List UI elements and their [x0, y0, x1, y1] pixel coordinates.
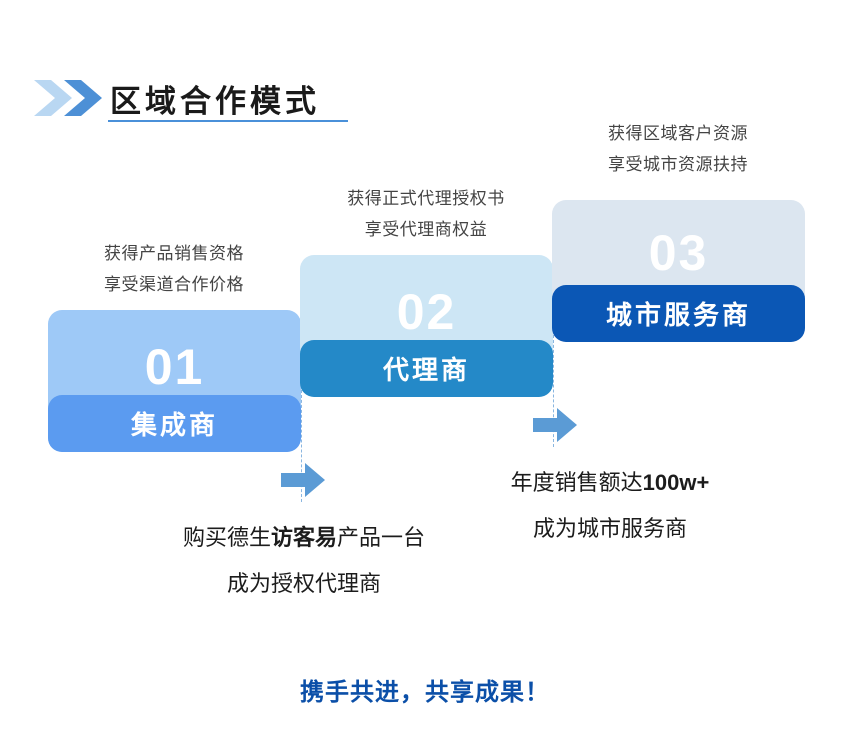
- benefit-line: 获得产品销售资格: [44, 238, 304, 269]
- requirement-highlight: 访客易: [271, 525, 337, 550]
- step-number-1: 01: [48, 342, 301, 392]
- requirement-line-1: 年度销售额达100w+: [430, 460, 790, 506]
- step-benefits-2: 获得正式代理授权书 享受代理商权益: [296, 183, 556, 245]
- benefit-line: 享受渠道合作价格: [44, 269, 304, 300]
- requirement-prefix: 购买德生: [183, 525, 271, 550]
- step-benefits-1: 获得产品销售资格 享受渠道合作价格: [44, 238, 304, 300]
- requirement-line-2: 成为城市服务商: [430, 506, 790, 552]
- step-benefits-3: 获得区域客户资源 享受城市资源扶持: [548, 118, 808, 180]
- partnership-steps-diagram: 获得产品销售资格 享受渠道合作价格 获得正式代理授权书 享受代理商权益 获得区域…: [0, 0, 850, 737]
- requirement-line-2: 成为授权代理商: [124, 561, 484, 607]
- step-label-3[interactable]: 城市服务商: [552, 285, 805, 342]
- requirement-prefix: 年度销售额达: [511, 470, 643, 495]
- requirement-block-2: 年度销售额达100w+ 成为城市服务商: [430, 460, 790, 552]
- requirement-highlight: 100w+: [643, 470, 710, 495]
- benefit-line: 享受代理商权益: [296, 214, 556, 245]
- arrow-right-icon: [533, 408, 577, 442]
- step-label-2[interactable]: 代理商: [300, 340, 553, 397]
- step-number-2: 02: [300, 287, 553, 337]
- step-number-3: 03: [552, 228, 805, 278]
- benefit-line: 获得正式代理授权书: [296, 183, 556, 214]
- step-label-1[interactable]: 集成商: [48, 395, 301, 452]
- benefit-line: 获得区域客户资源: [548, 118, 808, 149]
- arrow-right-icon: [281, 463, 325, 497]
- benefit-line: 享受城市资源扶持: [548, 149, 808, 180]
- requirement-suffix: 产品一台: [337, 525, 425, 550]
- footer-slogan: 携手共进，共享成果！: [0, 672, 850, 707]
